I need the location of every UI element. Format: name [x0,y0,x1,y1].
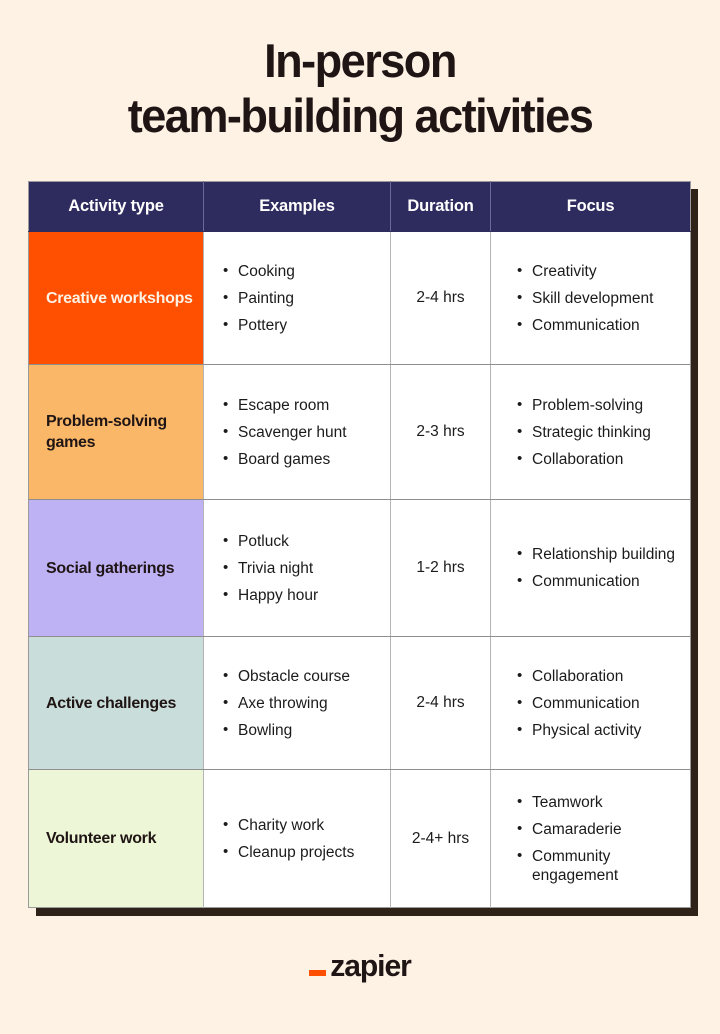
examples-list: Charity workCleanup projects [223,816,380,862]
column-header-activity-type: Activity type [29,182,204,232]
examples-cell: CookingPaintingPottery [204,232,391,365]
activity-type-cell: Social gatherings [29,500,204,637]
list-item: Collaboration [517,450,682,469]
focus-cell: CreativitySkill developmentCommunication [491,232,691,365]
zapier-logo: zapier [0,950,720,981]
table-row: Active challengesObstacle courseAxe thro… [29,637,691,770]
page-title-line-2: team-building activities [14,88,705,143]
table-row: Volunteer workCharity workCleanup projec… [29,770,691,908]
list-item: Teamwork [517,793,682,812]
focus-cell: Relationship buildingCommunication [491,500,691,637]
table-row: Creative workshopsCookingPaintingPottery… [29,232,691,365]
duration-cell: 2-4 hrs [391,637,491,770]
table-body: Creative workshopsCookingPaintingPottery… [29,232,691,908]
page-title: In-person team-building activities [0,33,720,143]
list-item: Physical activity [517,721,682,740]
list-item: Collaboration [517,667,682,686]
focus-list: Relationship buildingCommunication [517,545,682,591]
activity-type-cell: Volunteer work [29,770,204,908]
column-header-examples: Examples [204,182,391,232]
zapier-dash-icon [309,970,326,976]
focus-list: CreativitySkill developmentCommunication [517,262,682,335]
examples-list: Escape roomScavenger huntBoard games [223,396,380,469]
list-item: Pottery [223,316,380,335]
duration-cell: 2-4 hrs [391,232,491,365]
activity-type-cell: Problem-solving games [29,365,204,500]
zapier-wordmark: zapier [330,950,411,981]
focus-list: CollaborationCommunicationPhysical activ… [517,667,682,740]
focus-cell: TeamworkCamaraderieCommunity engagement [491,770,691,908]
list-item: Potluck [223,532,380,551]
list-item: Escape room [223,396,380,415]
focus-cell: CollaborationCommunicationPhysical activ… [491,637,691,770]
duration-cell: 1-2 hrs [391,500,491,637]
list-item: Problem-solving [517,396,682,415]
list-item: Cleanup projects [223,843,380,862]
duration-cell: 2-3 hrs [391,365,491,500]
examples-cell: PotluckTrivia nightHappy hour [204,500,391,637]
table-row: Problem-solving gamesEscape roomScavenge… [29,365,691,500]
activities-table: Activity type Examples Duration Focus Cr… [28,181,691,908]
infographic-page: In-person team-building activities Activ… [0,0,720,1034]
examples-list: PotluckTrivia nightHappy hour [223,532,380,605]
list-item: Obstacle course [223,667,380,686]
focus-list: Problem-solvingStrategic thinkingCollabo… [517,396,682,469]
list-item: Creativity [517,262,682,281]
list-item: Strategic thinking [517,423,682,442]
table-header: Activity type Examples Duration Focus [29,182,691,232]
list-item: Skill development [517,289,682,308]
list-item: Cooking [223,262,380,281]
table-row: Social gatheringsPotluckTrivia nightHapp… [29,500,691,637]
activities-table-wrapper: Activity type Examples Duration Focus Cr… [28,181,690,908]
activity-type-cell: Active challenges [29,637,204,770]
list-item: Communication [517,572,682,591]
list-item: Camaraderie [517,820,682,839]
list-item: Painting [223,289,380,308]
focus-list: TeamworkCamaraderieCommunity engagement [517,793,682,885]
examples-cell: Escape roomScavenger huntBoard games [204,365,391,500]
duration-cell: 2-4+ hrs [391,770,491,908]
table-header-row: Activity type Examples Duration Focus [29,182,691,232]
list-item: Bowling [223,721,380,740]
examples-cell: Obstacle courseAxe throwingBowling [204,637,391,770]
list-item: Communication [517,694,682,713]
list-item: Trivia night [223,559,380,578]
list-item: Scavenger hunt [223,423,380,442]
list-item: Axe throwing [223,694,380,713]
list-item: Board games [223,450,380,469]
examples-cell: Charity workCleanup projects [204,770,391,908]
activity-type-cell: Creative workshops [29,232,204,365]
column-header-focus: Focus [491,182,691,232]
examples-list: CookingPaintingPottery [223,262,380,335]
list-item: Happy hour [223,586,380,605]
focus-cell: Problem-solvingStrategic thinkingCollabo… [491,365,691,500]
page-title-line-1: In-person [14,33,705,88]
column-header-duration: Duration [391,182,491,232]
examples-list: Obstacle courseAxe throwingBowling [223,667,380,740]
list-item: Relationship building [517,545,682,564]
list-item: Charity work [223,816,380,835]
list-item: Communication [517,316,682,335]
list-item: Community engagement [517,847,682,885]
